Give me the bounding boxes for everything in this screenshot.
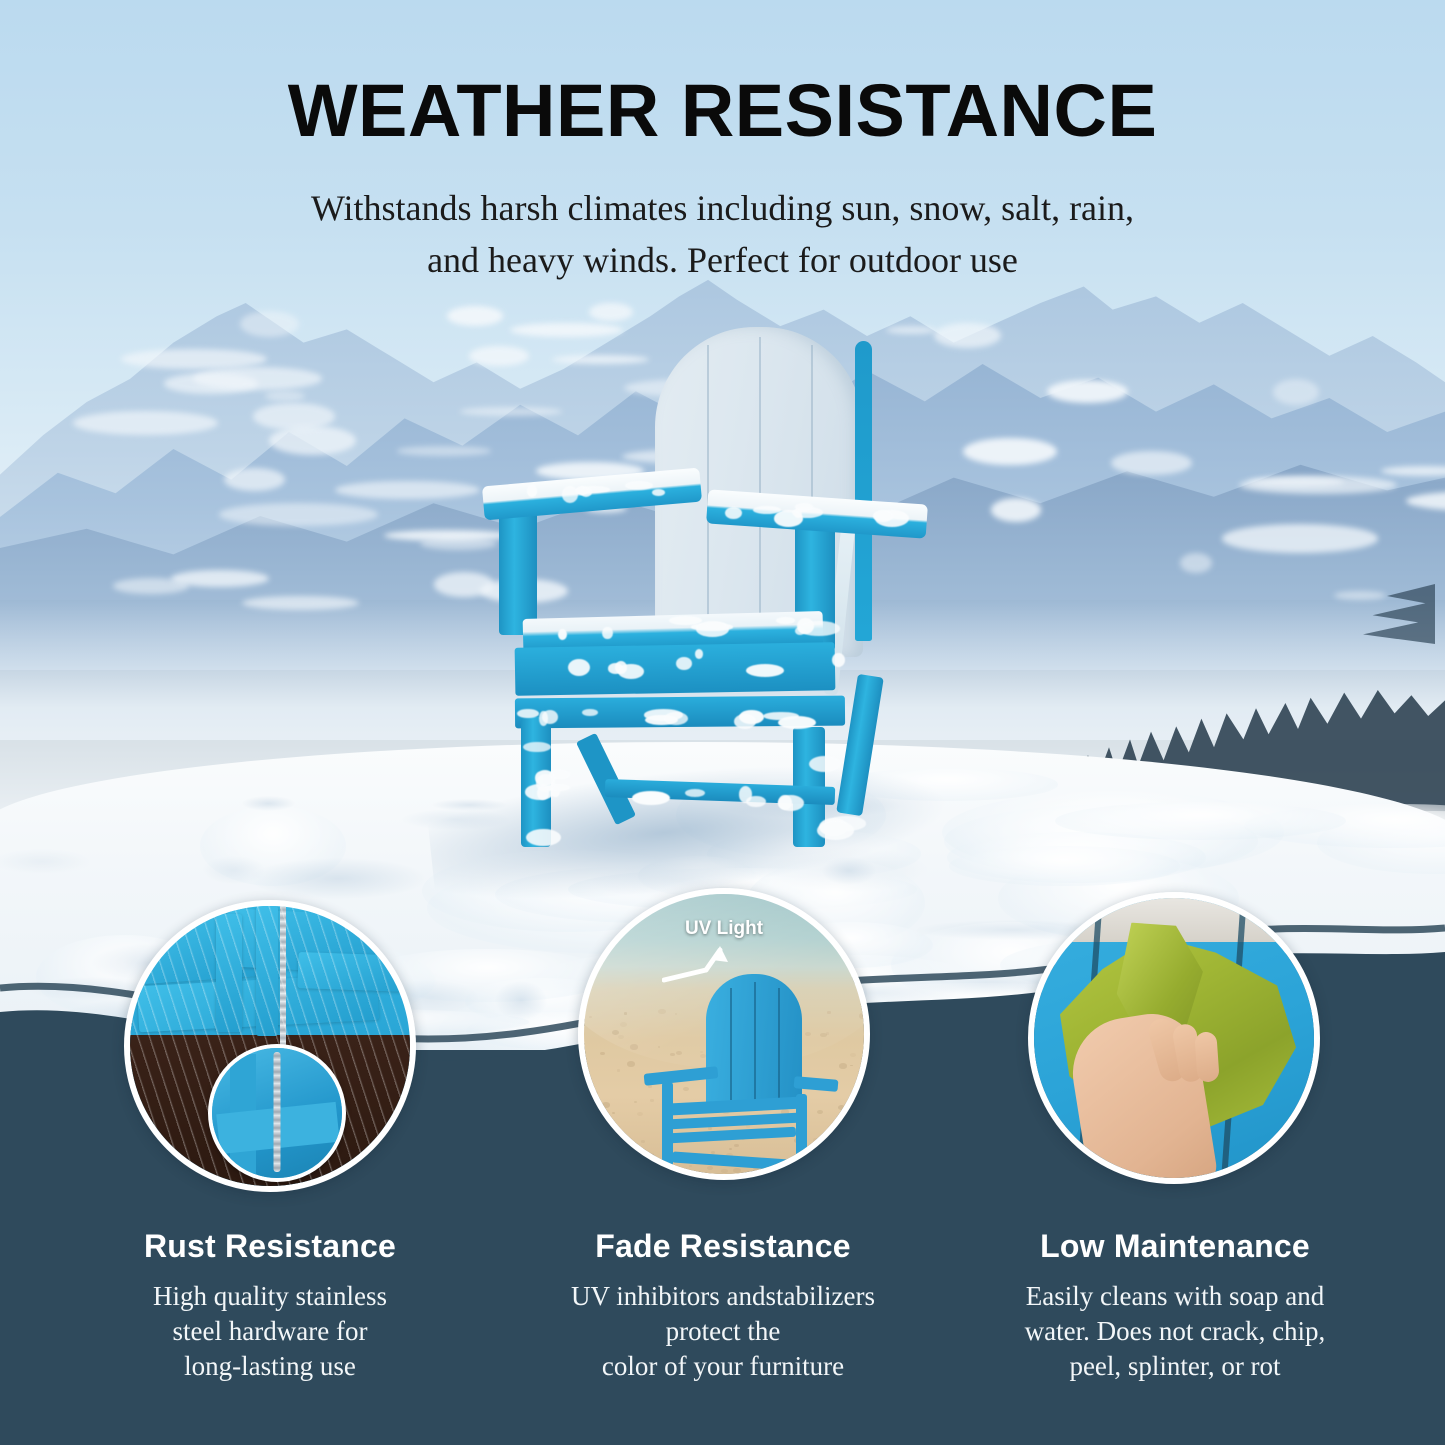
caption-title-low-maintenance: Low Maintenance — [995, 1228, 1355, 1265]
caption-fade-resistance: Fade Resistance UV inhibitors andstabili… — [543, 1228, 903, 1384]
caption-title-fade: Fade Resistance — [543, 1228, 903, 1265]
beach-chair — [644, 974, 834, 1174]
beach-chair-backrest — [706, 974, 802, 1106]
caption-rust-resistance: Rust Resistance High quality stainless s… — [90, 1228, 450, 1384]
caption-body-low-line-1: Easily cleans with soap and — [1026, 1281, 1324, 1311]
page-subtitle: Withstands harsh climates including sun,… — [0, 182, 1445, 286]
caption-body-rust-line-2: steel hardware for — [173, 1316, 368, 1346]
caption-body-fade-line-1: UV inhibitors andstabilizers — [571, 1281, 875, 1311]
feature-image-low-maintenance — [1028, 892, 1320, 1184]
caption-body-low-line-3: peel, splinter, or rot — [1069, 1351, 1280, 1381]
caption-body-low-line-2: water. Does not crack, chip, — [1025, 1316, 1326, 1346]
rust-inset-closeup — [208, 1044, 346, 1182]
finger-3 — [1194, 1031, 1219, 1082]
header: WEATHER RESISTANCE Withstands harsh clim… — [0, 0, 1445, 286]
beach-chair-footrail — [672, 1151, 804, 1171]
chain-closeup — [274, 1052, 281, 1172]
caption-body-fade-line-3: color of your furniture — [602, 1351, 844, 1381]
beach-chair-seat-slat-3 — [670, 1127, 796, 1144]
caption-body-fade-line-2: protect the — [666, 1316, 781, 1346]
subtitle-line-2: and heavy winds. Perfect for outdoor use — [0, 234, 1445, 286]
uv-light-label: UV Light — [685, 918, 763, 940]
chair-arm-post-left — [499, 505, 537, 635]
caption-body-fade: UV inhibitors andstabilizers protect the… — [543, 1279, 903, 1384]
caption-body-rust: High quality stainless steel hardware fo… — [90, 1279, 450, 1384]
caption-body-low-maintenance: Easily cleans with soap and water. Does … — [995, 1279, 1355, 1384]
page-title: WEATHER RESISTANCE — [0, 74, 1445, 148]
caption-body-rust-line-3: long-lasting use — [184, 1351, 356, 1381]
weather-resistance-infographic: WEATHER RESISTANCE Withstands harsh clim… — [0, 0, 1445, 1445]
feature-image-fade-resistance: UV Light — [578, 888, 870, 1180]
caption-title-rust: Rust Resistance — [90, 1228, 450, 1265]
caption-body-rust-line-1: High quality stainless — [153, 1281, 387, 1311]
feature-image-rust-resistance — [124, 900, 416, 1192]
caption-low-maintenance: Low Maintenance Easily cleans with soap … — [995, 1228, 1355, 1384]
chair-apron — [515, 642, 836, 696]
chair-back-edge — [855, 341, 872, 641]
subtitle-line-1: Withstands harsh climates including sun,… — [0, 182, 1445, 234]
uv-light-arrow-icon — [662, 944, 736, 990]
hero-chair — [455, 315, 955, 855]
